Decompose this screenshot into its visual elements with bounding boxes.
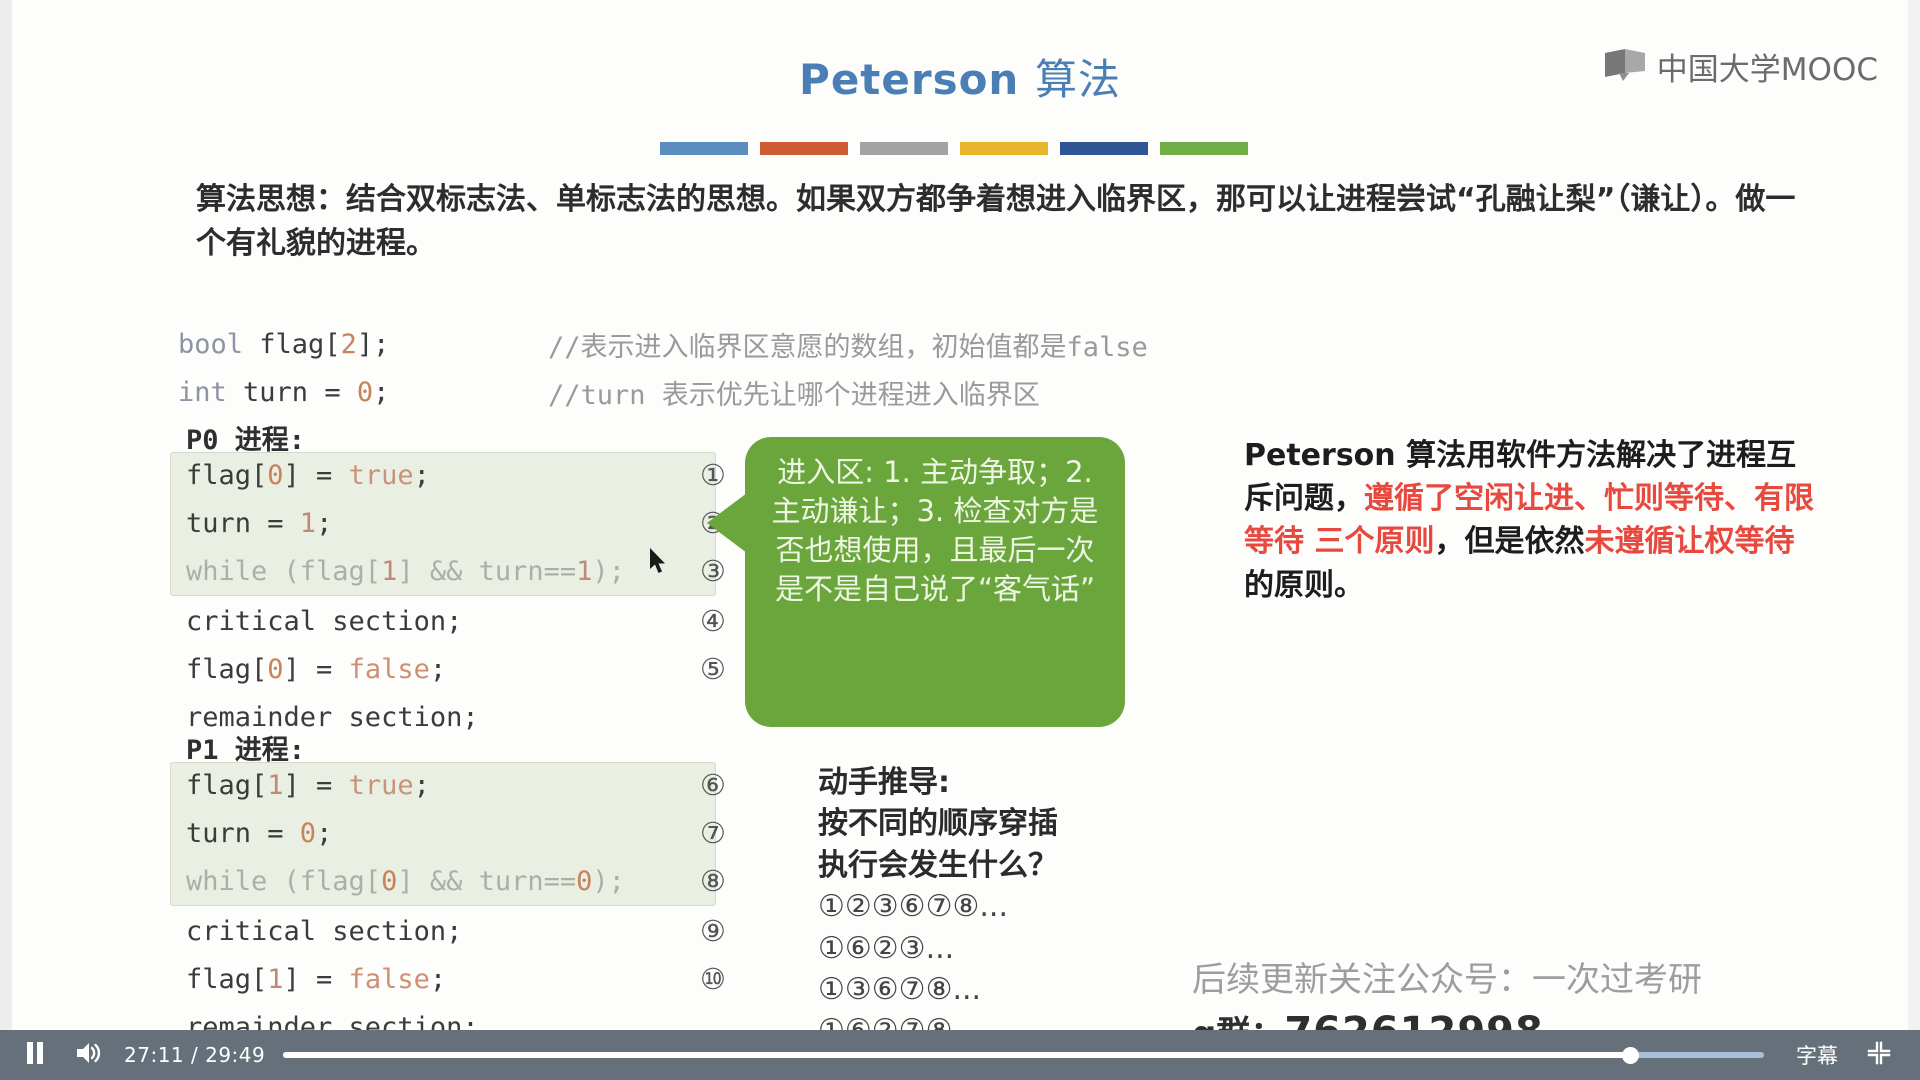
exercise-question-line-2: 执行会发生什么？ — [818, 845, 1238, 886]
time-display: 27:11 / 29:49 — [124, 1043, 265, 1067]
exit-fullscreen-icon — [1867, 1041, 1891, 1069]
p0-code-2: turn = 1; — [186, 508, 680, 539]
promo-line-1: 后续更新关注公众号：一次过考研 — [1192, 952, 1702, 1001]
entry-section-callout: 进入区: 1. 主动争取；2. 主动谦让；3. 检查对方是否也想使用，且最后一次… — [745, 437, 1125, 727]
exercise-sequence-2: ①⑥②③... — [818, 928, 1238, 969]
callout-text: 进入区: 1. 主动争取；2. 主动谦让；3. 检查对方是否也想使用，且最后一次… — [772, 455, 1099, 606]
volume-button[interactable] — [62, 1030, 116, 1080]
variable-declarations: bool flag[2]; //表示进入临界区意愿的数组，初始值都是false … — [178, 320, 1378, 416]
p1-code-1: flag[1] = true; — [186, 770, 680, 801]
p0-code-line-1: flag[0] = true; ① — [186, 452, 726, 498]
p0-code-line-3: while (flag[1] && turn==1); ③ — [186, 548, 726, 594]
page-title-en: Peterson — [799, 55, 1019, 104]
book-logo-icon — [1603, 47, 1647, 87]
mooc-logo: 中国大学MOOC — [1603, 44, 1878, 89]
p0-code-line-4: critical section; ④ — [186, 598, 726, 644]
algorithm-idea-paragraph: 算法思想：结合双标志法、单标志法的思想。如果双方都争着想进入临界区，那可以让进程… — [196, 178, 1806, 265]
total-duration: 29:49 — [205, 1043, 265, 1067]
title-rule-bars — [660, 142, 1248, 155]
p0-code-1: flag[0] = true; — [186, 460, 680, 491]
conclusion-paragraph: Peterson 算法用软件方法解决了进程互斥问题，遵循了空闲让进、忙则等待、有… — [1244, 434, 1824, 607]
progress-track[interactable] — [283, 1052, 1764, 1058]
video-control-bar: 27:11 / 29:49 字幕 — [0, 1030, 1920, 1080]
declaration-comment-2: //turn 表示优先让哪个进程进入临界区 — [548, 373, 1040, 412]
exercise-sequence-3: ①③⑥⑦⑧... — [818, 969, 1238, 1010]
slide-canvas: Peterson 算法 中国大学MOOC 算法思想：结合双标志法、单标志法的思想… — [0, 0, 1920, 1045]
page-title-zh: 算法 — [1035, 55, 1121, 104]
p0-step-mark-4: ④ — [680, 604, 726, 638]
volume-icon — [76, 1042, 102, 1068]
p0-code-5: flag[0] = false; — [186, 654, 680, 685]
declaration-code-1: bool flag[2]; — [178, 329, 548, 360]
exercise-question-line-1: 按不同的顺序穿插 — [818, 803, 1238, 844]
conclusion-part3: 的原则。 — [1244, 568, 1364, 603]
p0-step-mark-1: ① — [680, 458, 726, 492]
p1-code-5: flag[1] = false; — [186, 964, 680, 995]
exit-fullscreen-button[interactable] — [1852, 1030, 1906, 1080]
progress-played — [283, 1052, 1630, 1058]
p0-code-3: while (flag[1] && turn==1); — [186, 556, 680, 587]
rule-bar-2 — [760, 142, 848, 155]
exercise-sequence-1: ①②③⑥⑦⑧... — [818, 886, 1238, 927]
rule-bar-1 — [660, 142, 748, 155]
rule-bar-3 — [860, 142, 948, 155]
current-time: 27:11 — [124, 1043, 184, 1067]
p1-code-line-3: while (flag[0] && turn==0); ⑧ — [186, 858, 726, 904]
conclusion-red2: 未遵循让权等待 — [1584, 524, 1794, 559]
p1-step-mark-1: ⑥ — [680, 768, 726, 802]
p1-code-line-4: critical section; ⑨ — [186, 908, 726, 954]
progress-bar[interactable] — [283, 1030, 1764, 1080]
rule-bar-4 — [960, 142, 1048, 155]
declaration-row: bool flag[2]; //表示进入临界区意愿的数组，初始值都是false — [178, 320, 1378, 368]
p1-step-mark-4: ⑨ — [680, 914, 726, 948]
p1-step-mark-5: ⑩ — [680, 962, 726, 996]
subtitle-button[interactable]: 字幕 — [1782, 1040, 1852, 1070]
p0-step-mark-3: ③ — [680, 554, 726, 588]
p0-code-line-2: turn = 1; ② — [186, 500, 726, 546]
p1-code-line-5: flag[1] = false; ⑩ — [186, 956, 726, 1002]
declaration-row: int turn = 0; //turn 表示优先让哪个进程进入临界区 — [178, 368, 1378, 416]
time-separator: / — [191, 1043, 198, 1067]
p0-code-4: critical section; — [186, 606, 680, 637]
exercise-heading: 动手推导: — [818, 762, 1238, 803]
pause-icon — [26, 1042, 44, 1068]
p1-code-line-2: turn = 0; ⑦ — [186, 810, 726, 856]
p0-code-line-5: flag[0] = false; ⑤ — [186, 646, 726, 692]
exercise-block: 动手推导: 按不同的顺序穿插 执行会发生什么？ ①②③⑥⑦⑧... ①⑥②③..… — [818, 762, 1238, 1045]
p1-step-mark-2: ⑦ — [680, 816, 726, 850]
callout-tail — [707, 493, 747, 553]
slide-left-edge — [0, 0, 12, 1045]
declaration-code-2: int turn = 0; — [178, 377, 548, 408]
video-player-stage: Peterson 算法 中国大学MOOC 算法思想：结合双标志法、单标志法的思想… — [0, 0, 1920, 1080]
rule-bar-6 — [1160, 142, 1248, 155]
p1-code-2: turn = 0; — [186, 818, 680, 849]
p1-code-4: critical section; — [186, 916, 680, 947]
conclusion-part2: ，但是依然 — [1434, 524, 1584, 559]
p1-code-3: while (flag[0] && turn==0); — [186, 866, 680, 897]
rule-bar-5 — [1060, 142, 1148, 155]
p0-step-mark-5: ⑤ — [680, 652, 726, 686]
progress-handle[interactable] — [1622, 1047, 1639, 1064]
slide-right-edge — [1908, 0, 1920, 1045]
pause-button[interactable] — [8, 1030, 62, 1080]
p1-code-line-1: flag[1] = true; ⑥ — [186, 762, 726, 808]
mooc-logo-text: 中国大学MOOC — [1657, 44, 1878, 89]
p1-step-mark-3: ⑧ — [680, 864, 726, 898]
declaration-comment-1: //表示进入临界区意愿的数组，初始值都是false — [548, 325, 1148, 364]
